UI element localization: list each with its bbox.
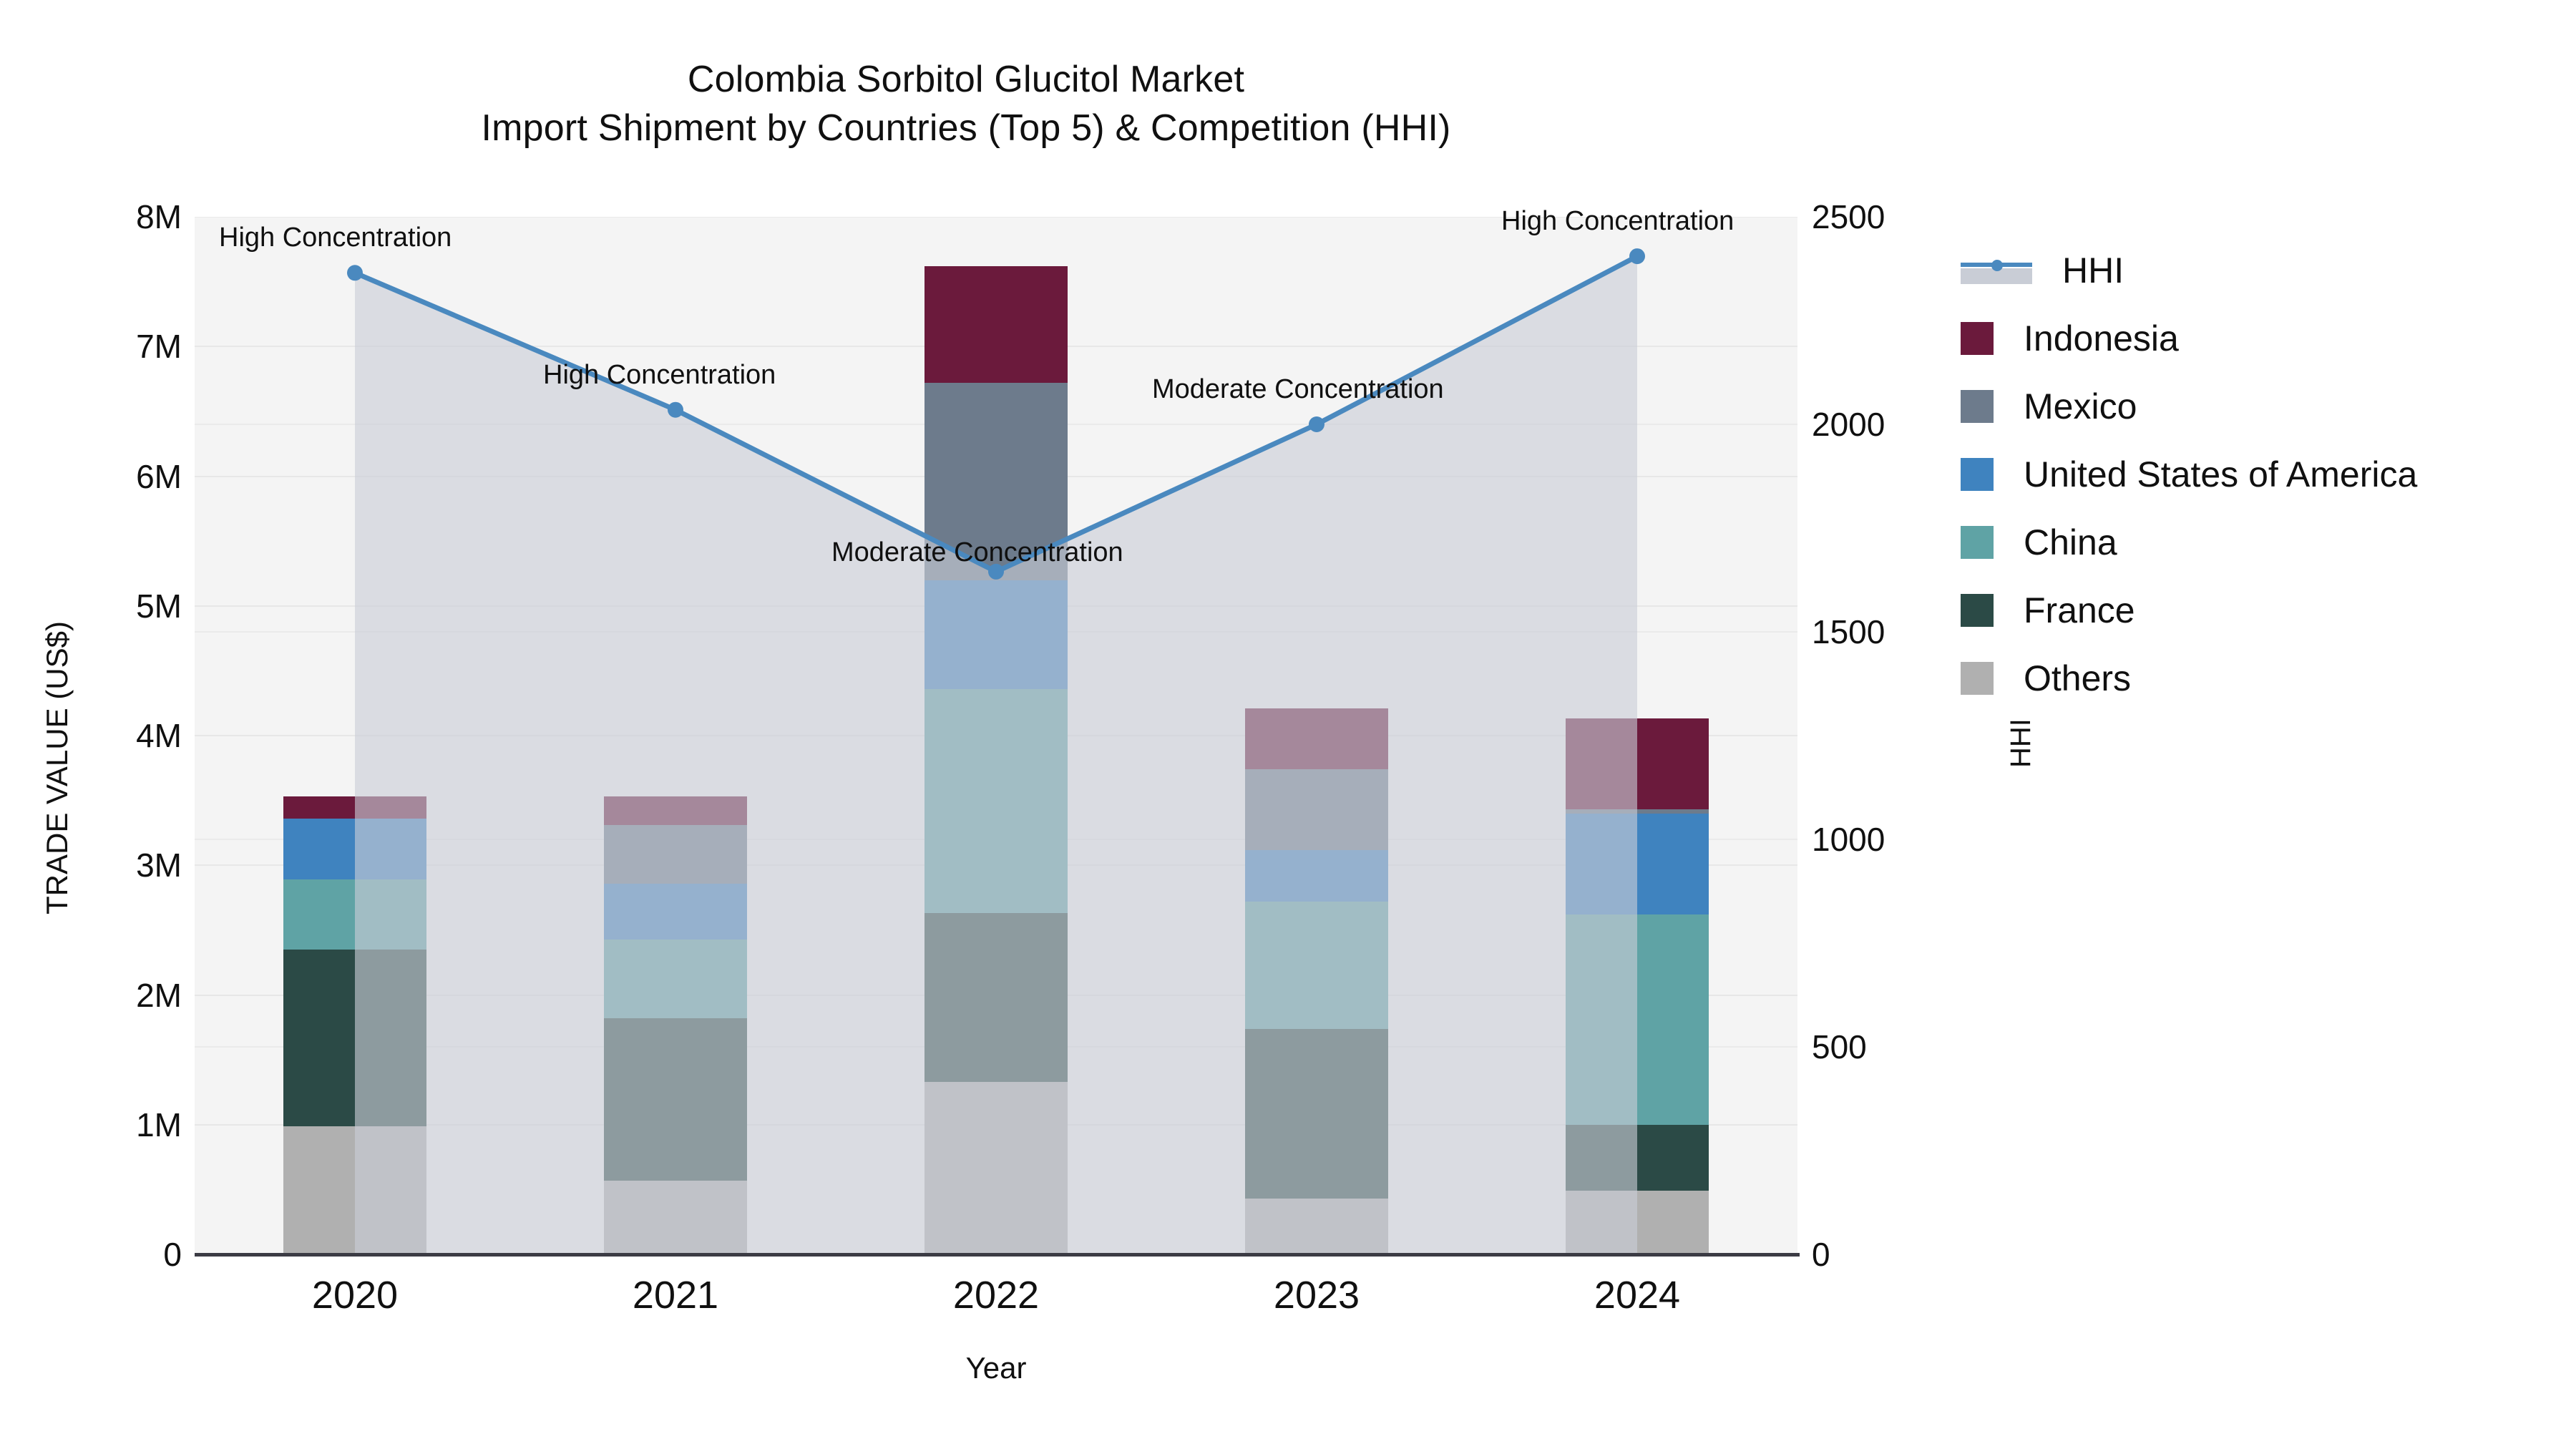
bar-segment-united-states-of-america-2020[interactable] bbox=[283, 819, 426, 879]
legend-swatch-icon bbox=[1961, 322, 1994, 355]
legend-label: HHI bbox=[2062, 250, 2124, 291]
x-axis-tick-2021: 2021 bbox=[568, 1273, 783, 1317]
bar-stack-2024[interactable] bbox=[1566, 217, 1709, 1254]
bar-segment-others-2022[interactable] bbox=[924, 1082, 1068, 1254]
legend-swatch-icon bbox=[1961, 458, 1994, 491]
legend-point-icon bbox=[1991, 260, 2003, 271]
y-axis-right-tick-2000: 2000 bbox=[1812, 405, 1984, 444]
y-axis-right-tick-0: 0 bbox=[1812, 1235, 1984, 1274]
bar-segment-france-2022[interactable] bbox=[924, 913, 1068, 1082]
bar-segment-china-2024[interactable] bbox=[1566, 914, 1709, 1125]
legend-swatch-icon bbox=[1961, 594, 1994, 627]
bar-segment-china-2023[interactable] bbox=[1245, 902, 1388, 1029]
plot-inner bbox=[195, 217, 1797, 1254]
y-axis-left-tick-2M: 2M bbox=[39, 976, 182, 1015]
bar-segment-france-2023[interactable] bbox=[1245, 1029, 1388, 1199]
legend-label: France bbox=[2024, 590, 2135, 631]
bar-segment-mexico-2021[interactable] bbox=[604, 825, 747, 884]
chart-legend: HHIIndonesiaMexicoUnited States of Ameri… bbox=[1961, 236, 2562, 712]
bar-segment-france-2020[interactable] bbox=[283, 950, 426, 1126]
bar-segment-indonesia-2021[interactable] bbox=[604, 796, 747, 825]
chart-title: Colombia Sorbitol Glucitol Market Import… bbox=[0, 56, 1932, 152]
chart-title-line-2: Import Shipment by Countries (Top 5) & C… bbox=[0, 104, 1932, 153]
hhi-annotation-2023: Moderate Concentration bbox=[1152, 374, 1444, 405]
plot-area bbox=[195, 217, 1797, 1254]
x-axis-title: Year bbox=[195, 1351, 1797, 1385]
bar-segment-mexico-2023[interactable] bbox=[1245, 769, 1388, 849]
hhi-annotation-2022: Moderate Concentration bbox=[831, 537, 1123, 568]
y-axis-left-tick-1M: 1M bbox=[39, 1106, 182, 1144]
x-axis-tick-2024: 2024 bbox=[1530, 1273, 1745, 1317]
y-axis-left-tick-5M: 5M bbox=[39, 587, 182, 625]
y-axis-left-tick-0: 0 bbox=[39, 1235, 182, 1274]
legend-item-others[interactable]: Others bbox=[1961, 644, 2562, 712]
legend-label: Indonesia bbox=[2024, 318, 2179, 359]
y-axis-left-title: TRADE VALUE (US$) bbox=[40, 621, 74, 914]
legend-label: United States of America bbox=[2024, 454, 2417, 495]
y-axis-left-tick-6M: 6M bbox=[39, 457, 182, 496]
bar-segment-china-2022[interactable] bbox=[924, 689, 1068, 914]
bar-segment-indonesia-2023[interactable] bbox=[1245, 708, 1388, 769]
bar-segment-others-2023[interactable] bbox=[1245, 1199, 1388, 1254]
hhi-annotation-2024: High Concentration bbox=[1501, 206, 1734, 237]
bar-segment-china-2020[interactable] bbox=[283, 879, 426, 950]
legend-label: China bbox=[2024, 522, 2117, 563]
bar-segment-others-2020[interactable] bbox=[283, 1126, 426, 1254]
y-axis-right-tick-500: 500 bbox=[1812, 1028, 1984, 1066]
bar-stack-2020[interactable] bbox=[283, 217, 426, 1254]
y-axis-right-title: HHI bbox=[2005, 718, 2037, 768]
legend-item-china[interactable]: China bbox=[1961, 508, 2562, 576]
bar-segment-united-states-of-america-2021[interactable] bbox=[604, 884, 747, 940]
legend-swatch-icon bbox=[1961, 390, 1994, 423]
y-axis-right-tick-2500: 2500 bbox=[1812, 197, 1984, 236]
bar-segment-france-2024[interactable] bbox=[1566, 1125, 1709, 1191]
bar-segment-indonesia-2020[interactable] bbox=[283, 796, 426, 819]
legend-line-marker-icon bbox=[1961, 254, 2032, 287]
legend-item-indonesia[interactable]: Indonesia bbox=[1961, 304, 2562, 372]
hhi-annotation-2020: High Concentration bbox=[219, 223, 452, 253]
bar-segment-france-2021[interactable] bbox=[604, 1018, 747, 1181]
x-axis-tick-2020: 2020 bbox=[248, 1273, 462, 1317]
x-axis-line bbox=[195, 1253, 1800, 1257]
bar-segment-others-2021[interactable] bbox=[604, 1181, 747, 1254]
x-axis-tick-2022: 2022 bbox=[889, 1273, 1103, 1317]
bar-segment-mexico-2024[interactable] bbox=[1566, 809, 1709, 813]
x-axis-tick-2023: 2023 bbox=[1209, 1273, 1424, 1317]
bar-segment-united-states-of-america-2022[interactable] bbox=[924, 580, 1068, 689]
bar-stack-2023[interactable] bbox=[1245, 217, 1388, 1254]
y-axis-left-tick-7M: 7M bbox=[39, 327, 182, 366]
y-axis-left-tick-8M: 8M bbox=[39, 197, 182, 236]
legend-swatch-icon bbox=[1961, 526, 1994, 559]
legend-item-mexico[interactable]: Mexico bbox=[1961, 372, 2562, 440]
chart-title-line-1: Colombia Sorbitol Glucitol Market bbox=[0, 56, 1932, 104]
legend-label: Others bbox=[2024, 658, 2131, 699]
bar-segment-indonesia-2022[interactable] bbox=[924, 266, 1068, 383]
bar-segment-united-states-of-america-2023[interactable] bbox=[1245, 850, 1388, 902]
y-axis-right-tick-1000: 1000 bbox=[1812, 820, 1984, 859]
hhi-annotation-2021: High Concentration bbox=[543, 360, 776, 391]
legend-item-united-states-of-america[interactable]: United States of America bbox=[1961, 440, 2562, 508]
y-axis-right-tick-1500: 1500 bbox=[1812, 613, 1984, 651]
bar-segment-others-2024[interactable] bbox=[1566, 1191, 1709, 1254]
legend-item-france[interactable]: France bbox=[1961, 576, 2562, 644]
legend-swatch-icon bbox=[1961, 662, 1994, 695]
chart-page: Colombia Sorbitol Glucitol Market Import… bbox=[0, 0, 2576, 1449]
legend-label: Mexico bbox=[2024, 386, 2137, 427]
bar-segment-united-states-of-america-2024[interactable] bbox=[1566, 814, 1709, 914]
bar-segment-china-2021[interactable] bbox=[604, 940, 747, 1019]
legend-item-hhi[interactable]: HHI bbox=[1961, 236, 2562, 304]
bar-segment-indonesia-2024[interactable] bbox=[1566, 718, 1709, 809]
bar-stack-2022[interactable] bbox=[924, 217, 1068, 1254]
